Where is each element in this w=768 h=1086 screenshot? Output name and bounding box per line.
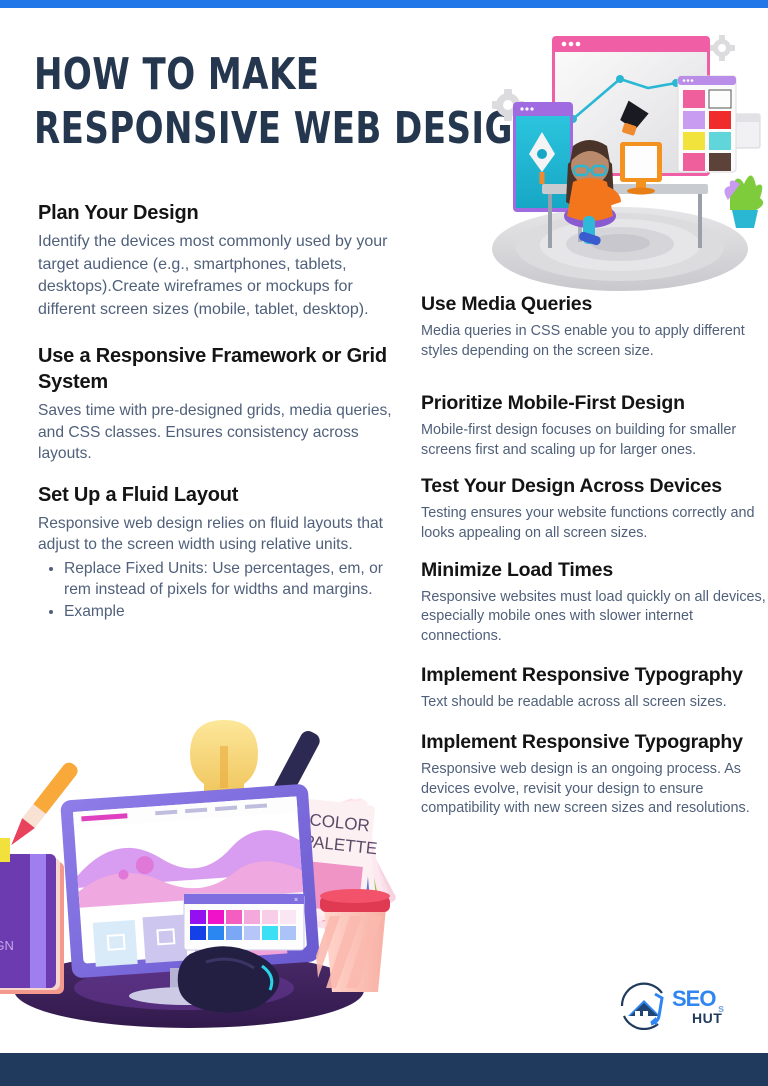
page-title-line-2: RESPONSIVE WEB DESIGN <box>34 102 438 156</box>
bottom-illustration: COLOR PALETTE <box>0 700 424 1030</box>
fluid-layout-bullet-list: Replace Fixed Units: Use percentages, em… <box>64 558 394 623</box>
section-body: Testing ensures your website functions c… <box>421 504 768 543</box>
section-heading: Prioritize Mobile-First Design <box>421 391 768 416</box>
section-body: Responsive websites must load quickly on… <box>421 588 768 647</box>
page-title-line-1: HOW TO MAKE <box>34 48 438 102</box>
section-heading: Test Your Design Across Devices <box>421 474 768 499</box>
section-heading: Use Media Queries <box>421 292 768 317</box>
plant <box>724 175 763 228</box>
section-plan-your-design: Plan Your Design Identify the devices mo… <box>38 200 394 321</box>
page-title: HOW TO MAKE RESPONSIVE WEB DESIGN <box>34 48 438 156</box>
section-responsive-framework: Use a Responsive Framework or Grid Syste… <box>38 343 394 465</box>
color-picker-dialog: × <box>184 894 304 950</box>
close-icon: × <box>294 897 298 904</box>
right-column: Use Media Queries Media queries in CSS e… <box>421 292 768 833</box>
section-body: Mobile-first design focuses on building … <box>421 421 768 460</box>
section-heading: Minimize Load Times <box>421 558 768 583</box>
list-item: Replace Fixed Units: Use percentages, em… <box>64 558 394 601</box>
section-heading: Implement Responsive Typography <box>421 730 768 755</box>
section-test-across-devices: Test Your Design Across Devices Testing … <box>421 474 768 543</box>
footer-bar <box>0 1053 768 1086</box>
section-body: Responsive web design is an ongoing proc… <box>421 760 768 819</box>
section-heading: Implement Responsive Typography <box>421 663 768 688</box>
section-body: Text should be readable across all scree… <box>421 693 768 713</box>
section-body: Media queries in CSS enable you to apply… <box>421 322 768 361</box>
section-body: Responsive web design relies on fluid la… <box>38 513 394 556</box>
section-heading: Set Up a Fluid Layout <box>38 482 394 508</box>
section-mobile-first: Prioritize Mobile-First Design Mobile-fi… <box>421 391 768 460</box>
left-column: Plan Your Design Identify the devices mo… <box>38 200 394 636</box>
notebook: DESIGN <box>0 838 64 994</box>
mobile-screen <box>513 102 573 212</box>
notebook-label: DESIGN <box>0 938 14 953</box>
hero-illustration <box>480 24 768 292</box>
section-fluid-layout: Set Up a Fluid Layout Responsive web des… <box>38 482 394 623</box>
logo-text-sub: HUT <box>692 1010 722 1026</box>
seos-hut-wordmark: SEO s HUT <box>672 986 724 1026</box>
section-heading: Plan Your Design <box>38 200 394 226</box>
infographic-page: HOW TO MAKE RESPONSIVE WEB DESIGN <box>0 0 768 1086</box>
section-body: Saves time with pre-designed grids, medi… <box>38 400 394 465</box>
color-palette-panel <box>678 76 736 172</box>
seos-hut-mark <box>622 984 662 1029</box>
section-responsive-typography-1: Implement Responsive Typography Text sho… <box>421 663 768 713</box>
section-body: Identify the devices most commonly used … <box>38 231 394 321</box>
brand-logo[interactable]: SEO s HUT <box>614 982 754 1030</box>
section-use-media-queries: Use Media Queries Media queries in CSS e… <box>421 292 768 361</box>
section-heading: Use a Responsive Framework or Grid Syste… <box>38 343 394 395</box>
platform-rings <box>492 207 748 291</box>
list-item: Example <box>64 601 394 623</box>
logo-text-main: SEO <box>672 986 716 1011</box>
section-minimize-load-times: Minimize Load Times Responsive websites … <box>421 558 768 647</box>
top-accent-bar <box>0 0 768 8</box>
section-responsive-typography-2: Implement Responsive Typography Responsi… <box>421 730 768 819</box>
